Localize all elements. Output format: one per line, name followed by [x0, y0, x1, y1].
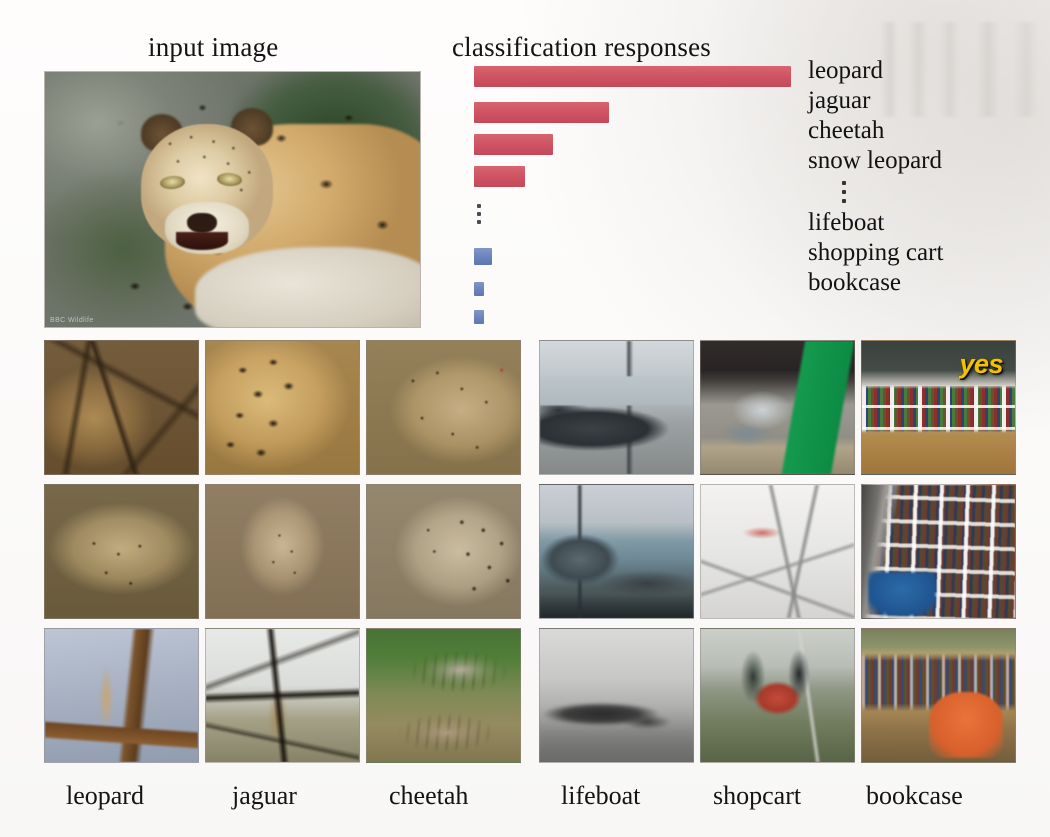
class-label-jaguar: jaguar — [808, 86, 1046, 116]
bar-snow-leopard — [474, 166, 525, 187]
thumbnail-sheen — [367, 485, 520, 618]
yes-caption-overlay: yes — [959, 349, 1003, 380]
category-label-bookcase: bookcase — [866, 781, 963, 811]
class-label-bookcase: bookcase — [808, 268, 1046, 298]
bar-cheetah — [474, 134, 553, 155]
thumbnail-leopard-on-rock — [44, 484, 199, 619]
thumbnail-sheen — [45, 485, 198, 618]
category-label-jaguar: jaguar — [232, 781, 297, 811]
thumbnail-sheen — [45, 341, 198, 474]
class-label-cheetah: cheetah — [808, 116, 1046, 146]
thumbnail-cheetah-frontal — [366, 484, 521, 619]
person-orange-shirt — [929, 692, 1003, 758]
class-label-snow-leopard: snow leopard — [808, 146, 1046, 176]
thumbnail-cheetahs-on-sand — [366, 340, 521, 475]
category-label-leopard: leopard — [66, 781, 144, 811]
bar-leopard — [474, 66, 791, 87]
thumbnail-boat-in-harbour — [539, 484, 694, 619]
thumbnail-grid-animals — [44, 340, 521, 763]
thumbnail-cart-wreck-green-bin — [700, 340, 855, 475]
thumbnail-leopard-hanging-tree — [44, 628, 199, 763]
class-label-shopping-cart: shopping cart — [808, 238, 1046, 268]
thumbnail-sheen — [701, 629, 854, 762]
bar-shopping-cart — [474, 282, 484, 296]
thumbnail-boat-grayscale — [539, 628, 694, 763]
thumbnail-jaguar-by-branches — [205, 628, 360, 763]
thumbnail-sheen — [367, 341, 520, 474]
classification-response-bar-chart — [474, 66, 804, 316]
bar-bookcase — [474, 310, 484, 324]
thumbnail-person-at-bookcase — [861, 628, 1016, 763]
input-image-photo: BBC Wildlife — [44, 71, 421, 328]
class-label-ellipsis-icon — [808, 176, 880, 208]
thumbnail-jaguar-in-foliage — [205, 340, 360, 475]
thumbnail-bookshelf-room — [861, 484, 1016, 619]
class-label-leopard: leopard — [808, 56, 1046, 86]
thumbnail-sheen — [45, 629, 198, 762]
class-label-column: leopardjaguarcheetahsnow leopardlifeboat… — [808, 56, 1046, 298]
thumbnail-sheen — [701, 485, 854, 618]
thumbnail-grid-objects: yes — [539, 340, 1016, 763]
photo-watermark: BBC Wildlife — [50, 317, 94, 324]
bar-gap-ellipsis-icon — [477, 204, 481, 224]
thumbnail-bookcase-yes: yes — [861, 340, 1016, 475]
thumbnail-jaguar-cub-in-grass — [205, 484, 360, 619]
bar-lifeboat — [474, 248, 492, 265]
thumbnail-sheen — [367, 629, 520, 762]
thumbnail-people-with-cart — [700, 628, 855, 763]
bar-jaguar — [474, 102, 609, 123]
thumbnail-submarine-by-wall — [539, 340, 694, 475]
thumbnail-sheen — [701, 341, 854, 474]
thumbnail-shopping-cart-white — [700, 484, 855, 619]
page-title-classification-responses: classification responses — [452, 32, 711, 63]
leopard-nose — [187, 213, 217, 233]
class-label-lifeboat: lifeboat — [808, 208, 1046, 238]
thumbnail-sheen — [206, 341, 359, 474]
category-label-cheetah: cheetah — [389, 781, 468, 811]
category-label-lifeboat: lifeboat — [561, 781, 640, 811]
thumbnail-sheen — [540, 341, 693, 474]
thumbnail-sheen — [540, 629, 693, 762]
category-label-shopcart: shopcart — [713, 781, 801, 811]
leopard-mouth — [176, 232, 228, 250]
page-title-input-image: input image — [148, 32, 278, 63]
thumbnail-sheen — [540, 485, 693, 618]
thumbnail-cheetah-in-grass — [366, 628, 521, 763]
blue-chair — [868, 572, 936, 616]
thumbnail-sheen — [206, 485, 359, 618]
thumbnail-sheen — [206, 629, 359, 762]
thumbnail-leopard-in-tree — [44, 340, 199, 475]
